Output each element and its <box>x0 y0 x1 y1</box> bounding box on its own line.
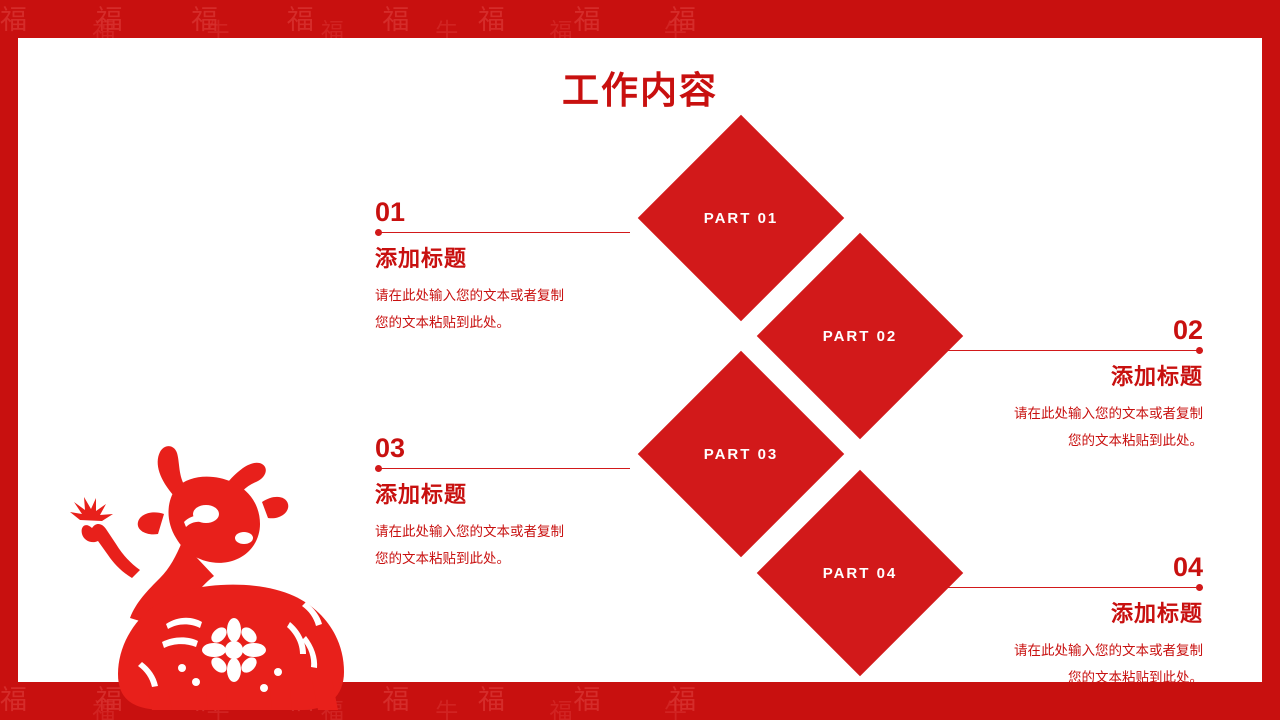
block-subtitle-02: 添加标题 <box>948 359 1203 391</box>
block-dot-02 <box>1196 347 1203 354</box>
block-subtitle-01: 添加标题 <box>375 241 630 273</box>
top-decor-band: 福 福 福 福 福 福 福 福 牛 福 牛 福 牛 福 牛 <box>0 0 1280 40</box>
slide-canvas: 福 福 福 福 福 福 福 福 牛 福 牛 福 牛 福 牛 福 福 福 福 福 … <box>0 0 1280 720</box>
block-rule-02 <box>948 350 1203 351</box>
block-body-line2-02: 您的文本粘贴到此处。 <box>948 428 1203 455</box>
block-dot-01 <box>375 229 382 236</box>
block-body-line2-04: 您的文本粘贴到此处。 <box>948 665 1203 692</box>
content-block-02: 02 添加标题 请在此处输入您的文本或者复制 您的文本粘贴到此处。 <box>948 316 1203 455</box>
block-number-04: 04 <box>948 553 1203 581</box>
papercut-ox-illustration <box>56 410 366 710</box>
block-number-01: 01 <box>375 198 630 226</box>
block-body-line1-03: 请在此处输入您的文本或者复制 <box>375 519 630 546</box>
decor-glyph-row-2: 牛 福 牛 福 牛 福 牛 <box>0 12 1258 40</box>
diamond-label-04: PART 04 <box>787 500 933 646</box>
block-subtitle-04: 添加标题 <box>948 596 1203 628</box>
content-block-01: 01 添加标题 请在此处输入您的文本或者复制 您的文本粘贴到此处。 <box>375 198 630 337</box>
block-dot-03 <box>375 465 382 472</box>
block-body-01: 请在此处输入您的文本或者复制 您的文本粘贴到此处。 <box>375 283 630 337</box>
block-body-04: 请在此处输入您的文本或者复制 您的文本粘贴到此处。 <box>948 638 1203 692</box>
slide-content-area: 工作内容 <box>18 38 1262 682</box>
page-title: 工作内容 <box>18 60 1262 114</box>
diamond-part-04[interactable]: PART 04 <box>757 470 963 676</box>
block-body-line1-01: 请在此处输入您的文本或者复制 <box>375 283 630 310</box>
block-body-03: 请在此处输入您的文本或者复制 您的文本粘贴到此处。 <box>375 519 630 573</box>
block-body-line1-04: 请在此处输入您的文本或者复制 <box>948 638 1203 665</box>
block-subtitle-03: 添加标题 <box>375 477 630 509</box>
block-rule-04 <box>948 587 1203 588</box>
block-rule-03 <box>375 468 630 469</box>
block-dot-04 <box>1196 584 1203 591</box>
block-number-03: 03 <box>375 434 630 462</box>
block-body-line2-03: 您的文本粘贴到此处。 <box>375 546 630 573</box>
block-body-line2-01: 您的文本粘贴到此处。 <box>375 310 630 337</box>
block-rule-01 <box>375 232 630 233</box>
block-body-line1-02: 请在此处输入您的文本或者复制 <box>948 401 1203 428</box>
block-body-02: 请在此处输入您的文本或者复制 您的文本粘贴到此处。 <box>948 401 1203 455</box>
content-block-03: 03 添加标题 请在此处输入您的文本或者复制 您的文本粘贴到此处。 <box>375 434 630 573</box>
block-number-02: 02 <box>948 316 1203 344</box>
content-block-04: 04 添加标题 请在此处输入您的文本或者复制 您的文本粘贴到此处。 <box>948 553 1203 692</box>
